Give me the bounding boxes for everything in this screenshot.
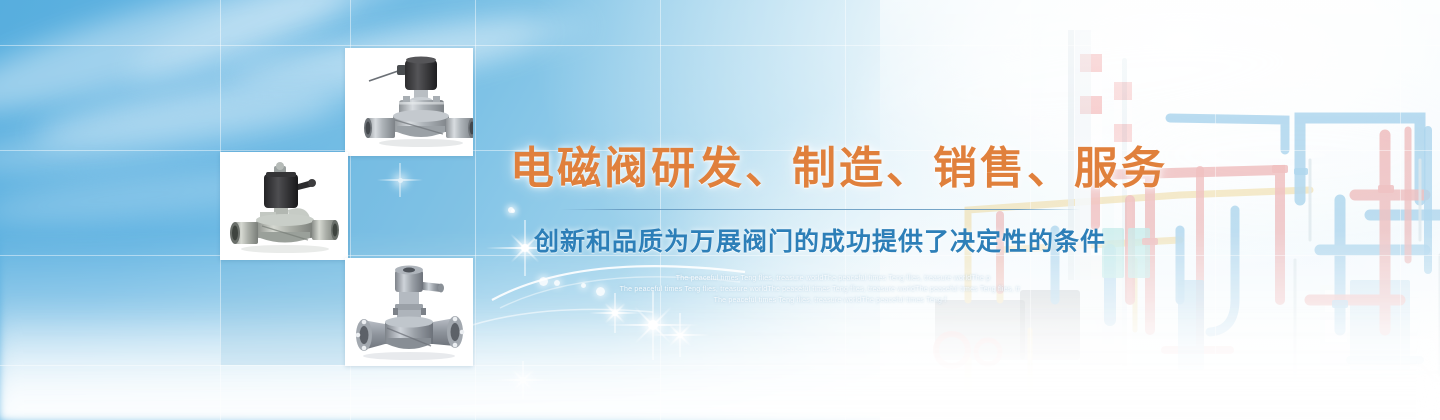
headline-divider bbox=[560, 209, 1080, 210]
solenoid-valve-threaded-left-image bbox=[220, 152, 348, 260]
fog-layer-lower bbox=[0, 300, 1440, 420]
product-tile[interactable] bbox=[345, 258, 473, 366]
solenoid-valve-threaded-top-image bbox=[345, 48, 473, 156]
fineprint-line: The peaceful times Teng flies, treasure … bbox=[510, 274, 1130, 283]
product-tile[interactable] bbox=[220, 152, 348, 260]
fineprint-line: The peaceful times Teng flies, treasure … bbox=[510, 296, 1130, 305]
product-tile[interactable] bbox=[345, 48, 473, 156]
banner-fineprint: The peaceful times Teng flies, treasure … bbox=[510, 274, 1130, 305]
accent-panel bbox=[350, 150, 475, 255]
banner-headline: 电磁阀研发、制造、销售、服务 bbox=[510, 145, 1130, 193]
accent-panel bbox=[220, 255, 350, 365]
banner-copy: 电磁阀研发、制造、销售、服务 创新和品质为万展阀门的成功提供了决定性的条件 Th… bbox=[510, 145, 1130, 307]
fineprint-line: The peaceful times Teng flies, treasure … bbox=[510, 285, 1130, 294]
solenoid-valve-flanged-image bbox=[345, 258, 473, 366]
hero-banner: 电磁阀研发、制造、销售、服务 创新和品质为万展阀门的成功提供了决定性的条件 Th… bbox=[0, 0, 1440, 420]
banner-subheadline: 创新和品质为万展阀门的成功提供了决定性的条件 bbox=[510, 222, 1130, 258]
